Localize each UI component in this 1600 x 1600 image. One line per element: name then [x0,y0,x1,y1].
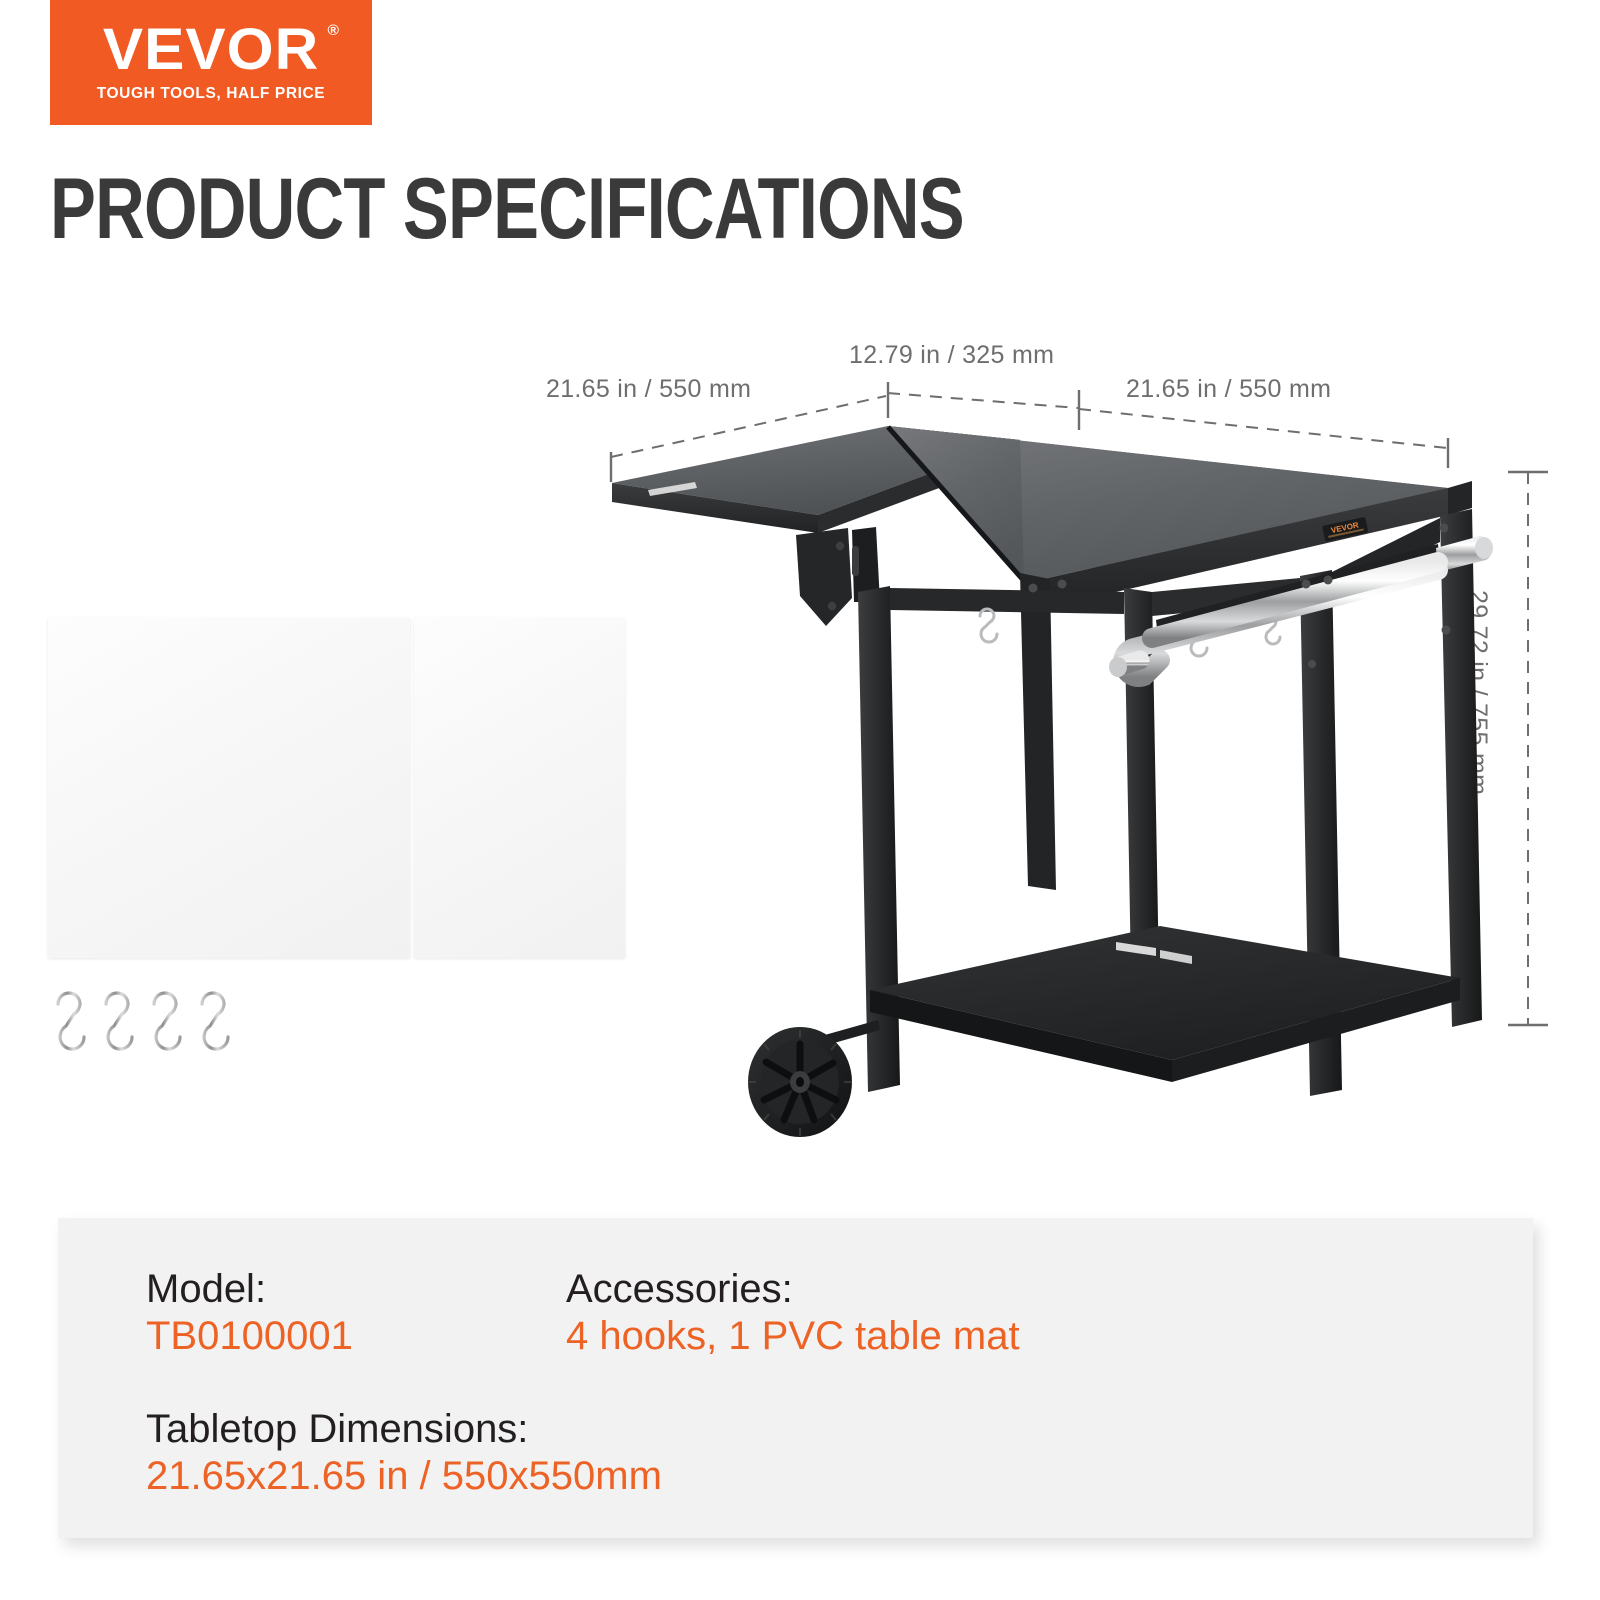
vevor-logo: VEVOR ® TOUGH TOOLS, HALF PRICE [50,0,372,125]
product-illustration: VEVOR [600,330,1560,1200]
leg-rear-left [1020,573,1056,890]
folding-table-cart: VEVOR [612,426,1493,1137]
rail-upper-left [890,588,1124,614]
brand-wordmark: VEVOR ® [103,22,319,77]
spec-model-value: TB0100001 [146,1313,353,1360]
bottom-shelf [870,926,1460,1060]
spec-accessories: Accessories: 4 hooks, 1 PVC table mat [566,1266,1020,1360]
cart-wheel [748,1027,852,1137]
pvc-table-mat-large [48,618,410,958]
brand-tagline: TOUGH TOOLS, HALF PRICE [97,85,326,103]
spec-accessories-value: 4 hooks, 1 PVC table mat [566,1313,1020,1360]
pvc-table-mat-small [414,618,625,958]
spec-accessories-label: Accessories: [566,1266,1020,1313]
s-hook-icon [154,993,180,1049]
product-spec-page: VEVOR ® TOUGH TOOLS, HALF PRICE PRODUCT … [0,0,1600,1600]
s-hook-icon [58,993,84,1049]
spec-tabletop-dimensions: Tabletop Dimensions: 21.65x21.65 in / 55… [146,1406,662,1500]
s-hook-icon [202,993,228,1049]
spec-tabletop-value: 21.65x21.65 in / 550x550mm [146,1453,662,1500]
s-hook-icon [980,609,997,642]
page-title: PRODUCT SPECIFICATIONS [50,166,964,252]
s-hook-icon [106,993,132,1049]
spec-model: Model: TB0100001 [146,1266,353,1360]
leg-rear-right [1440,509,1482,1027]
registered-trademark-icon: ® [327,24,339,38]
s-hooks-group [44,980,284,1070]
spec-tabletop-label: Tabletop Dimensions: [146,1406,662,1453]
spec-model-label: Model: [146,1266,353,1313]
brand-name: VEVOR [103,17,319,82]
specifications-panel: Model: TB0100001 Accessories: 4 hooks, 1… [58,1218,1533,1538]
